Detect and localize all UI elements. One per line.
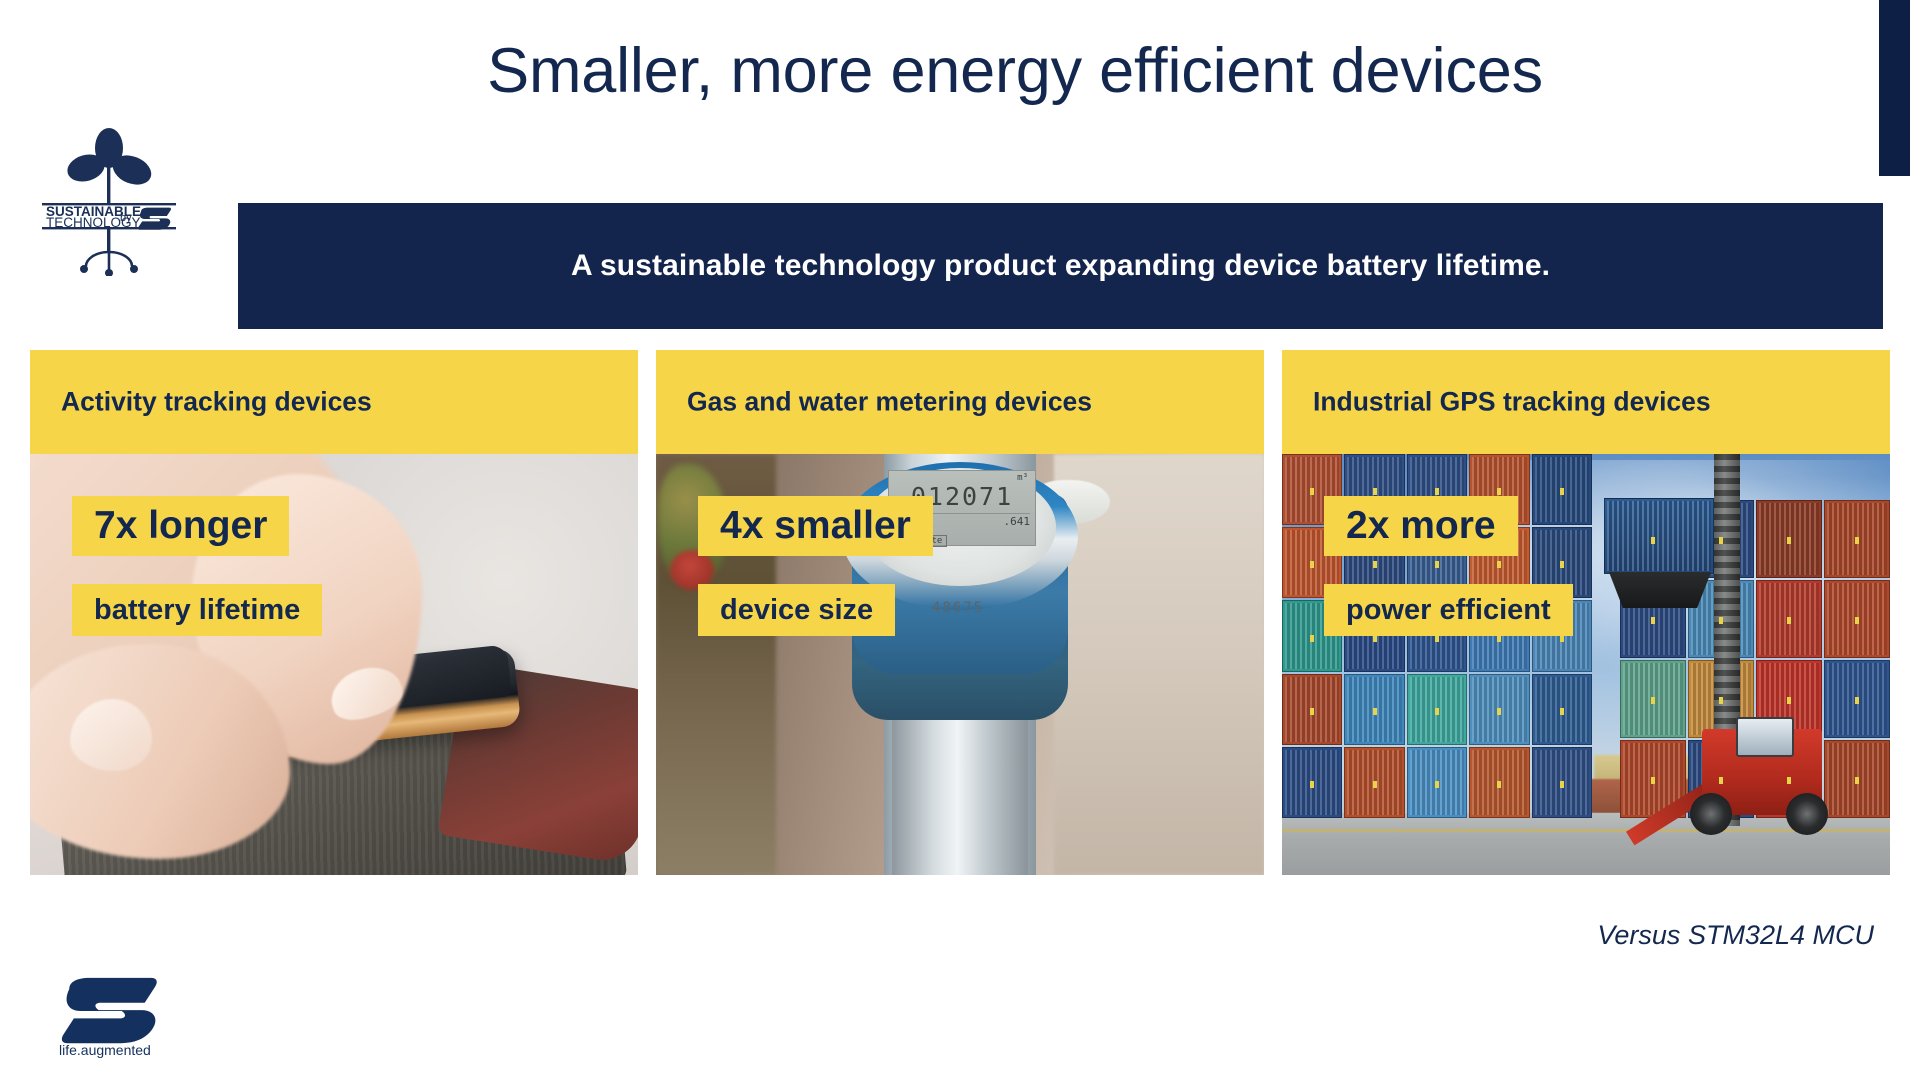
card-header: Industrial GPS tracking devices: [1282, 350, 1890, 454]
badge-primary: 4x smaller: [698, 496, 933, 556]
banner-text: A sustainable technology product expandi…: [571, 249, 1550, 283]
card-header-label: Activity tracking devices: [61, 387, 372, 418]
svg-text:by: by: [120, 212, 132, 224]
card-badges: 7x longer battery lifetime: [30, 454, 638, 875]
st-brand-logo: life.augmented: [55, 975, 185, 1061]
card-header-label: Industrial GPS tracking devices: [1313, 387, 1711, 418]
slide-root: Smaller, more energy efficient devices S…: [0, 0, 1910, 1078]
card-activity-tracking: Activity tracking devices 7x longer: [30, 350, 638, 875]
badge-secondary: device size: [698, 584, 895, 636]
card-gas-water-metering: Gas and water metering devices: [656, 350, 1264, 875]
card-header-label: Gas and water metering devices: [687, 387, 1092, 418]
card-industrial-gps-tracking: Industrial GPS tracking devices: [1282, 350, 1890, 875]
card-header: Activity tracking devices: [30, 350, 638, 454]
page-title: Smaller, more energy efficient devices: [200, 38, 1830, 104]
card-header: Gas and water metering devices: [656, 350, 1264, 454]
corner-accent-bar: [1879, 0, 1910, 176]
footnote: Versus STM32L4 MCU: [1597, 920, 1874, 951]
card-photo: 7x longer battery lifetime: [30, 454, 638, 875]
card-photo: 2x more power efficient: [1282, 454, 1890, 875]
card-badges: 4x smaller device size: [656, 454, 1264, 875]
badge-primary: 7x longer: [72, 496, 289, 556]
st-logo-tagline: life.augmented: [59, 1042, 151, 1058]
cards-row: Activity tracking devices 7x longer: [30, 350, 1890, 875]
banner: A sustainable technology product expandi…: [238, 203, 1883, 329]
badge-secondary: power efficient: [1324, 584, 1573, 636]
sustainable-technology-logo: SUSTAINABLE TECHNOLOGY by: [28, 124, 190, 276]
card-photo: m³ 012071 0.0 .641 Flowrate 48675 4x sma…: [656, 454, 1264, 875]
badge-primary: 2x more: [1324, 496, 1518, 556]
badge-secondary: battery lifetime: [72, 584, 322, 636]
card-badges: 2x more power efficient: [1282, 454, 1890, 875]
